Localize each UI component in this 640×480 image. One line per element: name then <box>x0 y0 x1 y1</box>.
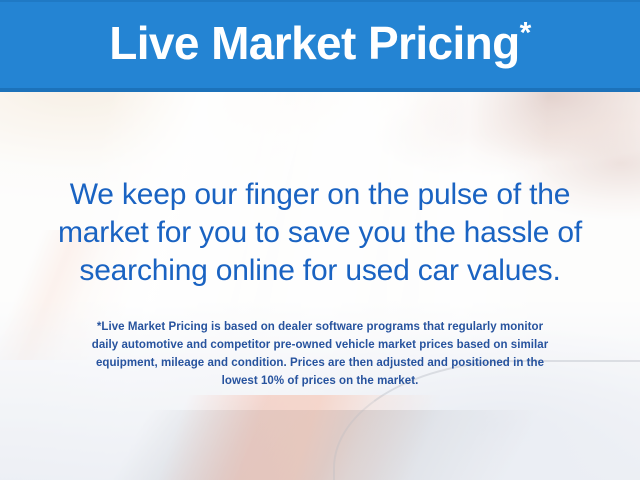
page-title: Live Market Pricing* <box>109 20 531 70</box>
headline: We keep our finger on the pulse of the m… <box>0 176 640 290</box>
disclaimer-text: *Live Market Pricing is based on dealer … <box>0 318 640 390</box>
page-title-text: Live Market Pricing <box>109 17 519 69</box>
headline-line-1: We keep our finger on the pulse of the <box>0 176 640 214</box>
disclaimer-line-4: lowest 10% of prices on the market. <box>0 372 640 390</box>
headline-line-3: searching online for used car values. <box>0 252 640 290</box>
disclaimer-line-2: daily automotive and competitor pre-owne… <box>0 336 640 354</box>
footnote-marker: * <box>520 17 531 50</box>
live-market-pricing-card: Live Market Pricing* We keep our finger … <box>0 0 640 480</box>
disclaimer-line-3: equipment, mileage and condition. Prices… <box>0 354 640 372</box>
header-banner: Live Market Pricing* <box>0 0 640 92</box>
disclaimer-line-1: *Live Market Pricing is based on dealer … <box>0 318 640 336</box>
headline-line-2: market for you to save you the hassle of <box>0 214 640 252</box>
